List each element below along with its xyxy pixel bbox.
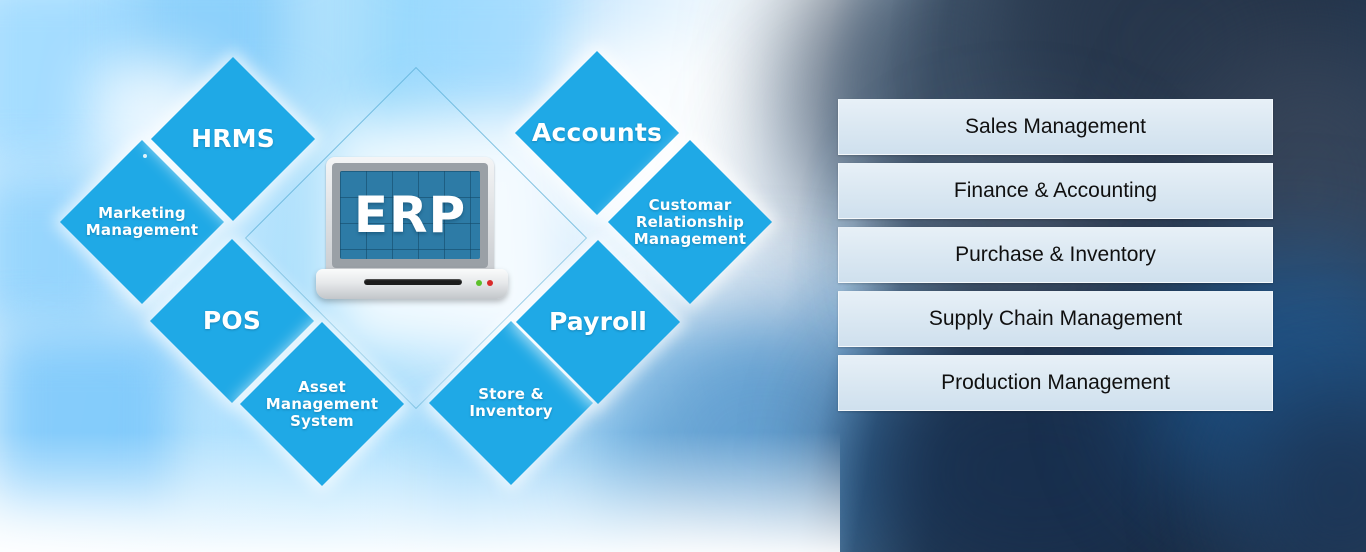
laptop-bezel: ERP (332, 163, 488, 268)
erp-module-diagram: Marketing Management HRMS POS Asset Mana… (0, 0, 840, 552)
feature-label: Supply Chain Management (929, 307, 1182, 331)
sparkle-dot-icon (143, 154, 147, 158)
feature-list-item[interactable]: Purchase & Inventory (838, 227, 1273, 283)
module-label: Marketing Management (86, 205, 198, 239)
module-label: Customar Relationship Management (634, 197, 746, 247)
feature-label: Purchase & Inventory (955, 243, 1156, 267)
module-label: Accounts (532, 119, 662, 147)
module-label: Payroll (549, 308, 647, 336)
laptop-slot (364, 279, 462, 285)
feature-list-item[interactable]: Sales Management (838, 99, 1273, 155)
feature-list-item[interactable]: Finance & Accounting (838, 163, 1273, 219)
feature-list-item[interactable]: Production Management (838, 355, 1273, 411)
feature-label: Finance & Accounting (954, 179, 1157, 203)
module-label: POS (203, 307, 261, 335)
feature-label: Sales Management (965, 115, 1146, 139)
laptop-icon: ERP (316, 157, 508, 303)
laptop-base (316, 269, 508, 299)
status-led-red-icon (487, 280, 493, 286)
feature-list-item[interactable]: Supply Chain Management (838, 291, 1273, 347)
laptop-lid: ERP (326, 157, 494, 275)
power-led-green-icon (476, 280, 482, 286)
feature-label: Production Management (941, 371, 1170, 395)
laptop-screen: ERP (340, 171, 480, 259)
erp-banner: Marketing Management HRMS POS Asset Mana… (0, 0, 1366, 552)
module-label: Asset Management System (266, 379, 378, 429)
erp-screen-label: ERP (354, 186, 466, 244)
feature-list: Sales Management Finance & Accounting Pu… (838, 99, 1273, 419)
module-label: HRMS (191, 125, 275, 153)
module-label: Store & Inventory (469, 386, 552, 420)
